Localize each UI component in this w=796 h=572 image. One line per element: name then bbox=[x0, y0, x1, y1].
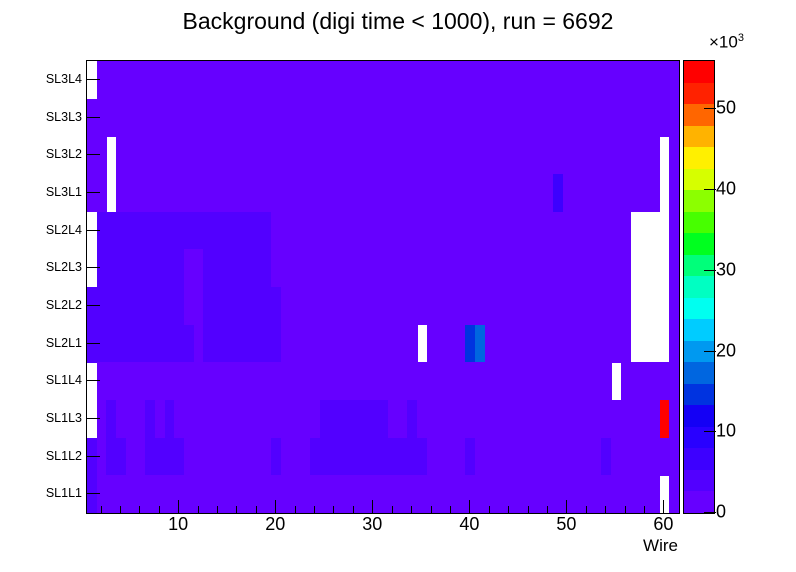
colorbar-tick bbox=[704, 270, 716, 271]
colorbar-tick bbox=[704, 108, 716, 109]
heatmap-cell bbox=[669, 136, 679, 174]
heatmap-cell bbox=[97, 212, 272, 250]
x-axis-minor-tick bbox=[101, 506, 102, 513]
colorbar-labels: 01020304050 bbox=[716, 60, 786, 512]
heatmap-cell bbox=[281, 325, 417, 363]
colorbar-tick-label: 20 bbox=[716, 340, 736, 361]
heatmap-cell bbox=[145, 438, 184, 476]
colorbar-tick bbox=[704, 431, 716, 432]
heatmap-cell bbox=[203, 287, 281, 325]
x-axis-major-tick bbox=[663, 500, 664, 513]
heatmap-cell bbox=[97, 362, 612, 400]
y-axis-tick bbox=[87, 154, 100, 155]
y-axis-tick-label: SL2L3 bbox=[22, 260, 82, 274]
x-axis-minor-tick bbox=[392, 506, 393, 513]
y-axis-tick-label: SL1L2 bbox=[22, 449, 82, 463]
x-axis-minor-tick bbox=[431, 506, 432, 513]
heatmap-cell bbox=[116, 136, 660, 174]
y-axis-tick bbox=[87, 456, 100, 457]
x-axis-tick-label: 50 bbox=[556, 514, 576, 535]
colorbar-tick-label: 10 bbox=[716, 421, 736, 442]
y-axis-tick-label: SL1L3 bbox=[22, 411, 82, 425]
x-axis-ticks bbox=[86, 499, 679, 513]
x-axis-minor-tick bbox=[198, 506, 199, 513]
x-axis-minor-tick bbox=[644, 506, 645, 513]
heatmap-cell bbox=[116, 174, 553, 212]
y-axis-tick-label: SL2L2 bbox=[22, 298, 82, 312]
x-axis-minor-tick bbox=[353, 506, 354, 513]
heatmap-cell bbox=[563, 174, 661, 212]
heatmap-cell bbox=[669, 287, 679, 325]
x-axis-minor-tick bbox=[333, 506, 334, 513]
x-axis-minor-tick bbox=[605, 506, 606, 513]
heatmap-cell bbox=[97, 249, 185, 287]
heatmap-cell bbox=[669, 212, 679, 250]
x-axis-major-tick bbox=[469, 500, 470, 513]
x-axis-tick-label: 10 bbox=[168, 514, 188, 535]
x-axis-minor-tick bbox=[508, 506, 509, 513]
heatmap-cell bbox=[611, 438, 679, 476]
x-axis-minor-tick bbox=[120, 506, 121, 513]
y-axis-tick bbox=[87, 493, 100, 494]
heatmap-cell bbox=[310, 438, 427, 476]
x-axis-minor-tick bbox=[411, 506, 412, 513]
x-axis-minor-tick bbox=[528, 506, 529, 513]
heatmap-cell bbox=[271, 249, 631, 287]
y-axis-tick bbox=[87, 267, 100, 268]
colorbar-tick-label: 0 bbox=[716, 502, 726, 523]
x-axis-minor-tick bbox=[586, 506, 587, 513]
colorbar-tick-label: 50 bbox=[716, 98, 736, 119]
heatmap-cell bbox=[97, 61, 679, 99]
x-axis-major-tick bbox=[178, 500, 179, 513]
colorbar-tick bbox=[704, 189, 716, 190]
x-axis-minor-tick bbox=[547, 506, 548, 513]
y-axis-tick bbox=[87, 230, 100, 231]
heatmap-cell bbox=[669, 249, 679, 287]
y-axis-tick bbox=[87, 79, 100, 80]
colorbar-ticks bbox=[684, 60, 716, 512]
x-axis-minor-tick bbox=[159, 506, 160, 513]
heatmap-cell bbox=[184, 249, 204, 287]
colorbar-tick bbox=[704, 351, 716, 352]
y-axis-tick bbox=[87, 343, 100, 344]
plot-frame bbox=[86, 60, 680, 514]
colorbar-tick-label: 40 bbox=[716, 179, 736, 200]
y-axis-ticks bbox=[87, 60, 101, 512]
x-axis-minor-tick bbox=[489, 506, 490, 513]
x-axis-tick-label: 60 bbox=[653, 514, 673, 535]
heatmap-cell bbox=[669, 325, 679, 363]
y-axis-tick-label: SL2L4 bbox=[22, 223, 82, 237]
heatmap-cell bbox=[621, 362, 679, 400]
x-axis-minor-tick bbox=[217, 506, 218, 513]
heatmap-cell bbox=[427, 438, 466, 476]
y-axis-tick bbox=[87, 380, 100, 381]
x-axis-minor-tick bbox=[236, 506, 237, 513]
x-axis-minor-tick bbox=[295, 506, 296, 513]
y-axis-tick-label: SL1L1 bbox=[22, 486, 82, 500]
page-title: Background (digi time < 1000), run = 669… bbox=[0, 8, 796, 35]
x-axis-tick-label: 30 bbox=[362, 514, 382, 535]
x-axis-minor-tick bbox=[256, 506, 257, 513]
y-axis-tick-label: SL3L4 bbox=[22, 72, 82, 86]
heatmap-cell bbox=[126, 438, 146, 476]
heatmap-cell bbox=[485, 325, 631, 363]
x-axis-major-tick bbox=[566, 500, 567, 513]
heatmap-cell bbox=[116, 400, 146, 438]
heatmap-cell bbox=[87, 99, 679, 137]
heatmap-cell bbox=[184, 438, 272, 476]
heatmap-cell bbox=[281, 287, 631, 325]
heatmap-cell bbox=[417, 400, 660, 438]
y-axis-tick bbox=[87, 117, 100, 118]
root-canvas: Background (digi time < 1000), run = 669… bbox=[0, 0, 796, 572]
heatmap-cell bbox=[669, 174, 679, 212]
colorbar-exponent-label: ×103 bbox=[709, 32, 744, 53]
y-axis-tick-label: SL3L3 bbox=[22, 110, 82, 124]
x-axis-major-tick bbox=[275, 500, 276, 513]
x-axis-tick-label: 40 bbox=[459, 514, 479, 535]
x-axis-minor-tick bbox=[314, 506, 315, 513]
x-axis-major-tick bbox=[372, 500, 373, 513]
y-axis-tick-label: SL3L1 bbox=[22, 185, 82, 199]
y-axis-tick-label: SL2L1 bbox=[22, 336, 82, 350]
colorbar-tick-label: 30 bbox=[716, 259, 736, 280]
x-axis-labels: 102030405060 bbox=[86, 514, 679, 536]
x-axis-tick-label: 20 bbox=[265, 514, 285, 535]
heatmap-cell bbox=[281, 438, 311, 476]
heatmap-cell bbox=[87, 287, 185, 325]
x-axis-minor-tick bbox=[450, 506, 451, 513]
y-axis-tick bbox=[87, 418, 100, 419]
heatmap-cell bbox=[669, 400, 679, 438]
y-axis-labels: SL3L4SL3L3SL3L2SL3L1SL2L4SL2L3SL2L2SL2L1… bbox=[14, 60, 82, 512]
heatmap-cell bbox=[427, 325, 466, 363]
heatmap-cell bbox=[203, 325, 281, 363]
colorbar-tick bbox=[704, 512, 716, 513]
heatmap-cells bbox=[87, 61, 679, 513]
y-axis-tick bbox=[87, 305, 100, 306]
heatmap-cell bbox=[184, 287, 204, 325]
y-axis-tick-label: SL3L2 bbox=[22, 147, 82, 161]
heatmap-cell bbox=[203, 249, 272, 287]
heatmap-cell bbox=[475, 438, 602, 476]
y-axis-tick-label: SL1L4 bbox=[22, 373, 82, 387]
x-axis-minor-tick bbox=[139, 506, 140, 513]
x-axis-title: Wire bbox=[0, 536, 678, 556]
heatmap-cell bbox=[106, 438, 126, 476]
heatmap-cell bbox=[388, 400, 408, 438]
x-axis-minor-tick bbox=[625, 506, 626, 513]
y-axis-tick bbox=[87, 192, 100, 193]
heatmap-cell bbox=[87, 325, 194, 363]
heatmap-cell bbox=[271, 212, 631, 250]
heatmap-cell bbox=[174, 400, 320, 438]
heatmap-cell bbox=[320, 400, 389, 438]
